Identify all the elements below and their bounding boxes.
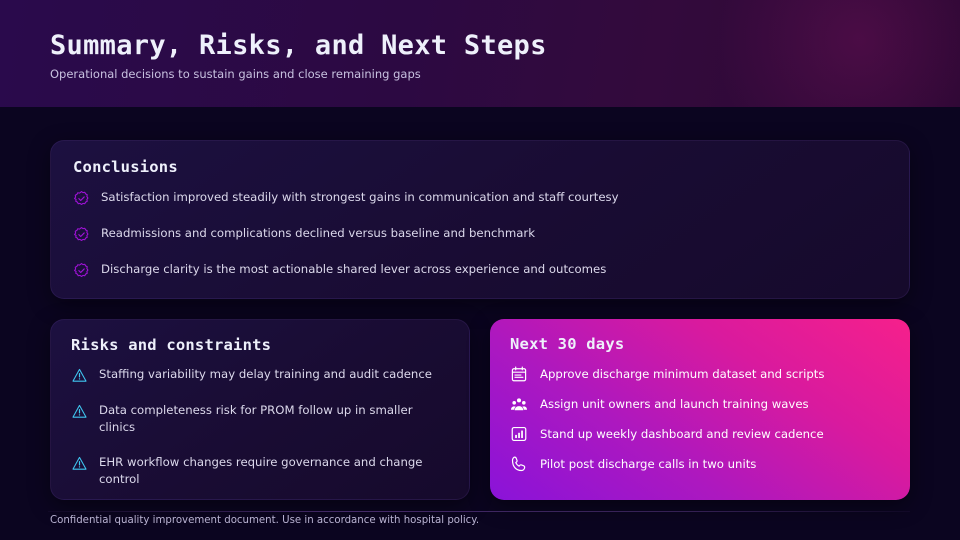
list-item-label: Discharge clarity is the most actionable… [101,261,606,278]
check-badge-icon [73,262,90,279]
page-subtitle: Operational decisions to sustain gains a… [50,67,421,81]
list-item: EHR workflow changes require governance … [71,454,449,488]
list-item: Discharge clarity is the most actionable… [73,261,887,279]
list-item: Data completeness risk for PROM follow u… [71,402,449,436]
risks-card-title: Risks and constraints [71,336,449,354]
list-item-label: Stand up weekly dashboard and review cad… [540,426,824,443]
list-item-label: Assign unit owners and launch training w… [540,396,809,413]
conclusions-card-title: Conclusions [73,158,887,176]
check-badge-icon [73,190,90,207]
list-item: Satisfaction improved steadily with stro… [73,189,887,207]
list-item: Approve discharge minimum dataset and sc… [510,365,890,383]
bar-chart-icon [510,425,528,443]
footer-note: Confidential quality improvement documen… [50,515,479,526]
list-item: Pilot post discharge calls in two units [510,455,890,473]
list-item-label: Approve discharge minimum dataset and sc… [540,366,824,383]
next-30-days-card: Next 30 days Approve discharge minimum d… [490,319,910,500]
next-30-days-card-title: Next 30 days [510,335,890,353]
users-group-icon [510,395,528,413]
risks-list: Staffing variability may delay training … [71,366,449,488]
header-glow-decoration [700,0,960,107]
slide-header: Summary, Risks, and Next Steps Operation… [0,0,960,107]
calendar-icon [510,365,528,383]
warning-triangle-icon [71,403,88,420]
list-item: Staffing variability may delay training … [71,366,449,384]
list-item-label: Satisfaction improved steadily with stro… [101,189,619,206]
list-item-label: Pilot post discharge calls in two units [540,456,756,473]
list-item-label: Staffing variability may delay training … [99,366,432,383]
conclusions-list: Satisfaction improved steadily with stro… [73,189,887,279]
check-badge-icon [73,226,90,243]
phone-icon [510,455,528,473]
list-item-label: Readmissions and complications declined … [101,225,535,242]
page-title: Summary, Risks, and Next Steps [50,30,547,61]
list-item-label: Data completeness risk for PROM follow u… [99,402,449,436]
list-item-label: EHR workflow changes require governance … [99,454,449,488]
next-30-days-list: Approve discharge minimum dataset and sc… [510,365,890,473]
list-item: Readmissions and complications declined … [73,225,887,243]
list-item: Assign unit owners and launch training w… [510,395,890,413]
list-item: Stand up weekly dashboard and review cad… [510,425,890,443]
risks-card: Risks and constraints Staffing variabili… [50,319,470,500]
conclusions-card: Conclusions Satisfaction improved steadi… [50,140,910,299]
warning-triangle-icon [71,367,88,384]
warning-triangle-icon [71,455,88,472]
footer-divider [48,511,910,512]
